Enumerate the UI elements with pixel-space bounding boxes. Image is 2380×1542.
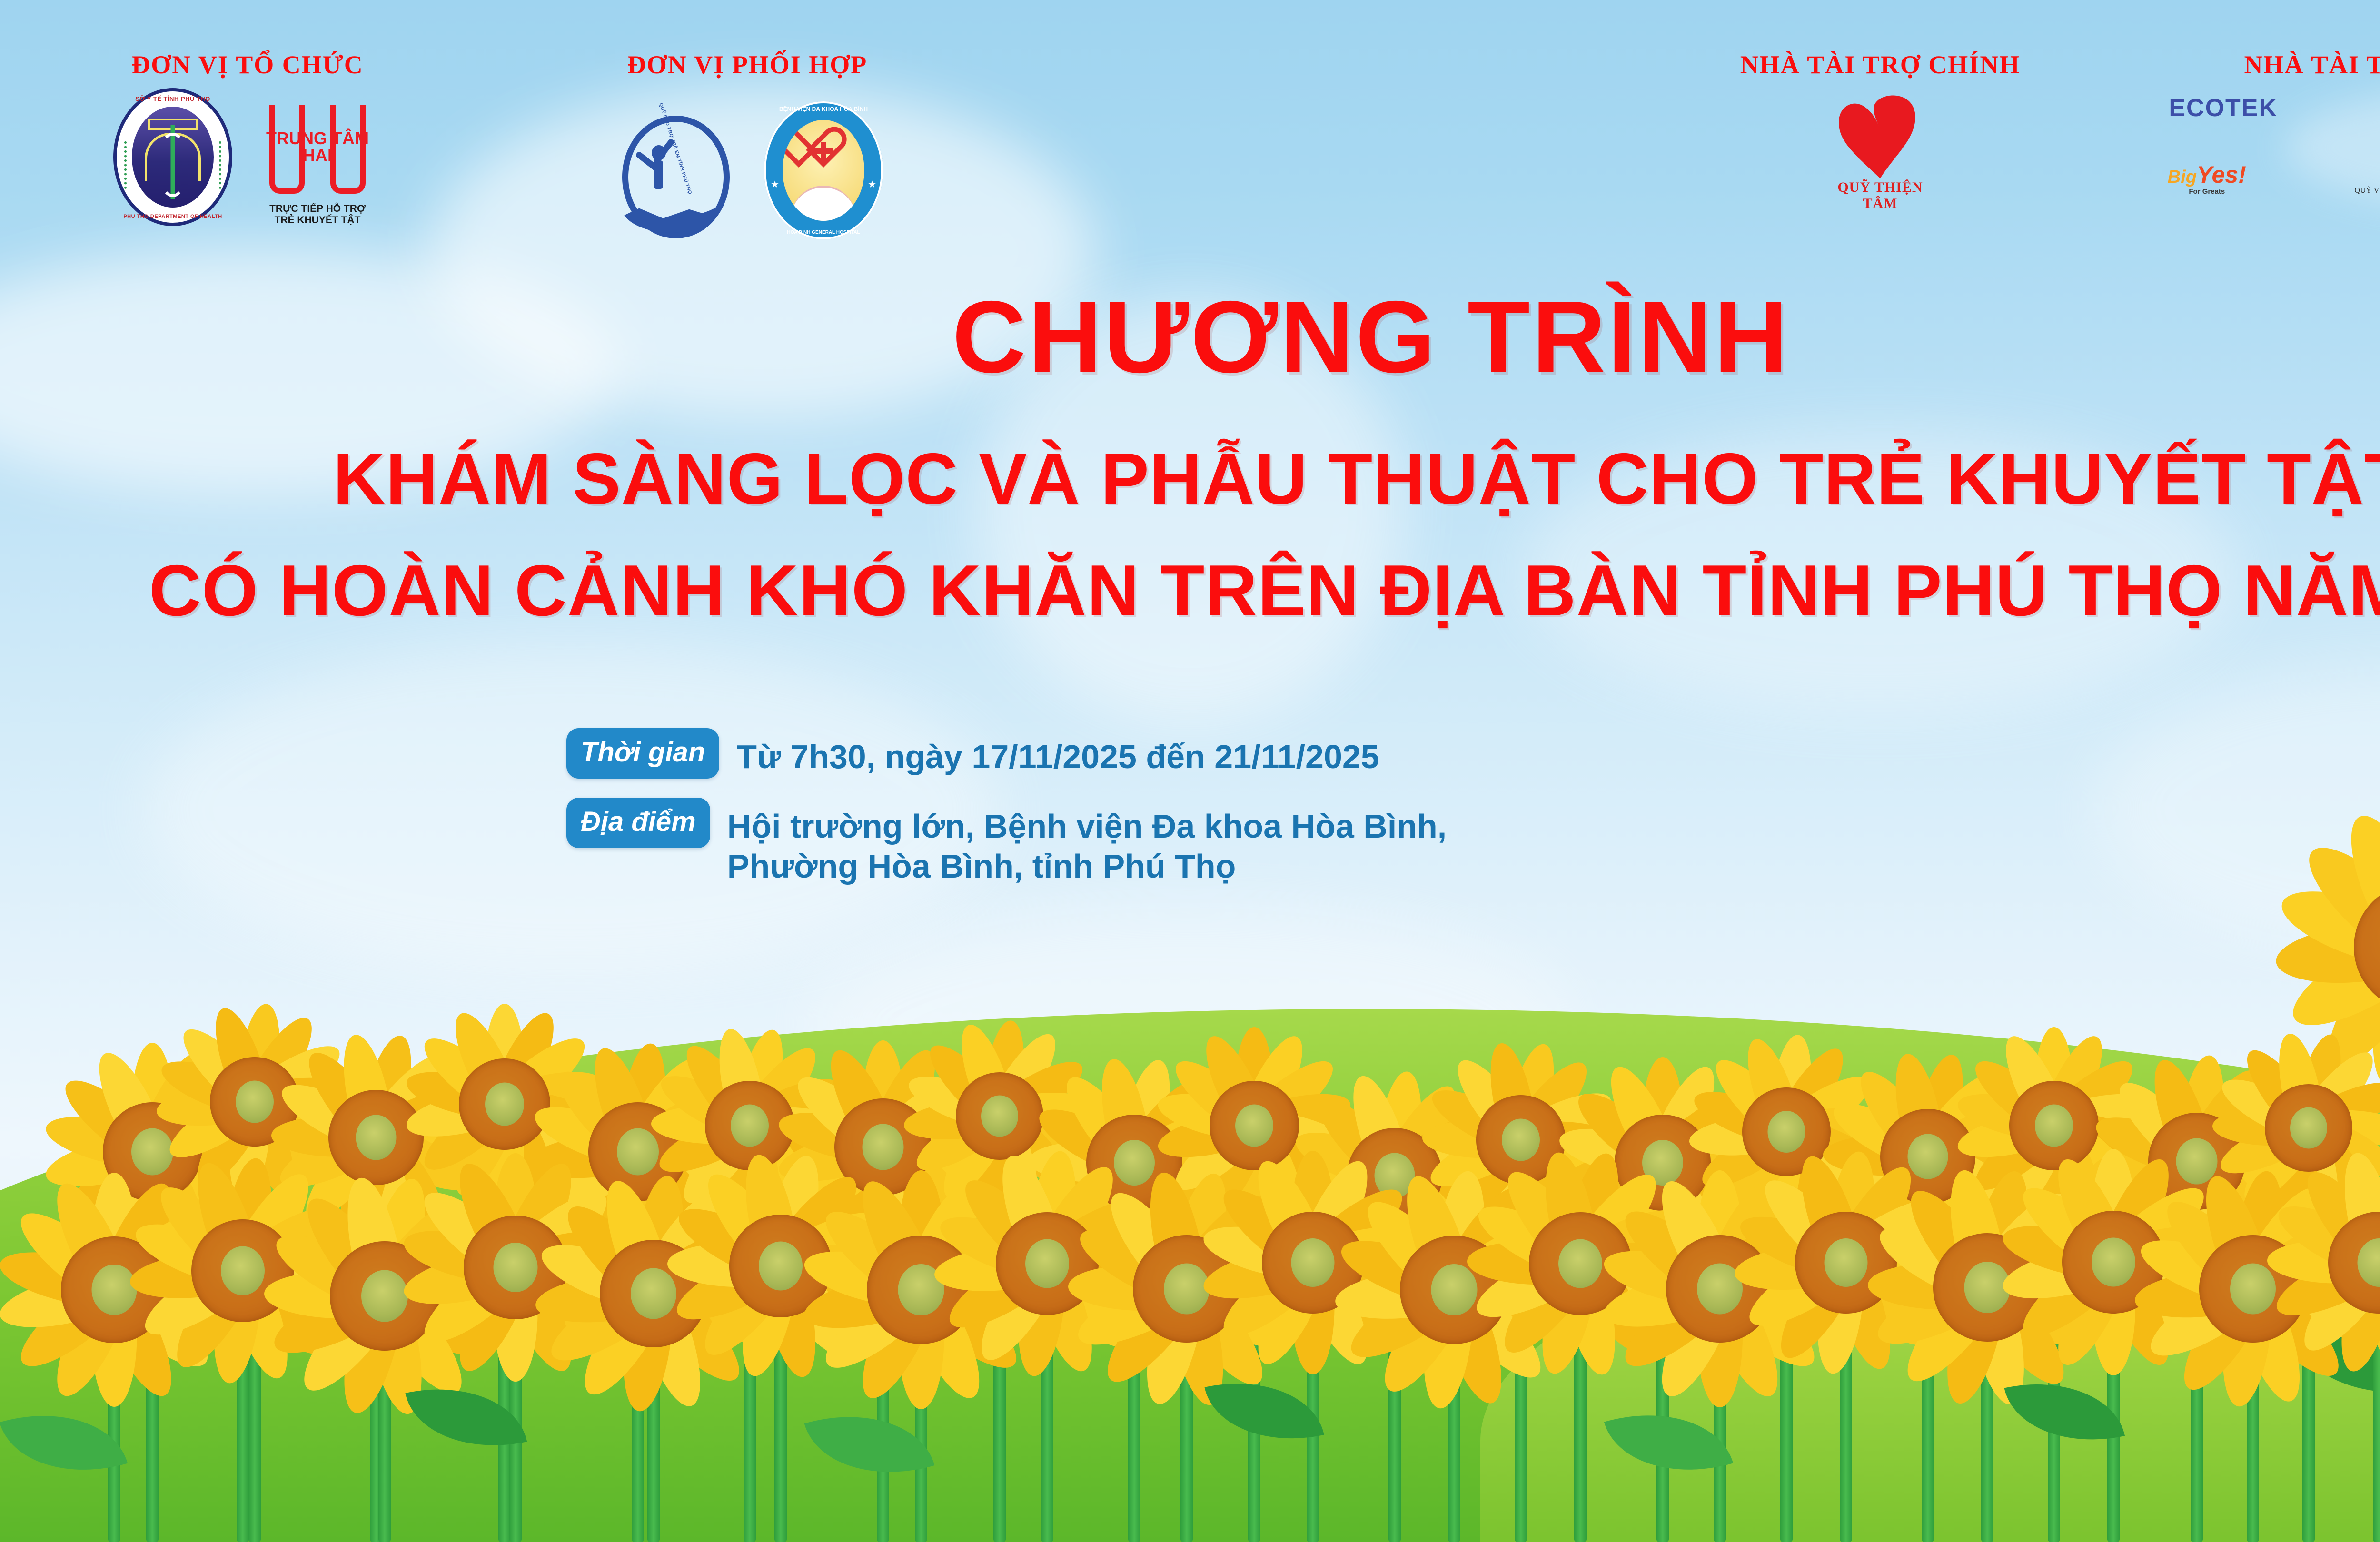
co-sponsor-row-2: Big Yes! For Greats QUỸ VÌ TƯƠNG LAI XAN… [2113,134,2380,195]
sponsor-group-partner: ĐƠN VỊ PHỐI HỢP QUỸ BẢO TRỢ TRẺ EM TỈNH … [557,50,938,239]
bigyes-yes: Yes! [2197,163,2246,187]
quy-thien-tam-label: QUỸ THIỆN TÂM [1818,179,1942,212]
trung-tam-hai-logo: TRUNG TÂM HAI TRỰC TIẾP HỖ TRỢ TRẺ KHUYẾ… [253,105,382,226]
star-left-icon: ★ [771,178,779,190]
tth-line1: TRUNG TÂM [253,130,382,147]
person-icon [639,145,677,202]
medical-cross-icon [814,142,833,161]
sponsor-group-main-sponsor: NHÀ TÀI TRỢ CHÍNH QUỸ THIỆN TÂM [1680,50,2080,212]
sponsor-group-heading: ĐƠN VỊ PHỐI HỢP [557,50,938,79]
page-title: CHƯƠNG TRÌNH [0,286,2380,388]
event-banner: ĐƠN VỊ TỔ CHỨC SỞ Y TẾ TỈNH PHÚ THỌ PHU … [0,0,2380,1542]
sponsor-group-organizer: ĐƠN VỊ TỔ CHỨC SỞ Y TẾ TỈNH PHÚ THỌ PHU … [57,50,438,226]
benh-vien-da-khoa-hoa-binh-seal: BỆNH VIỆN ĐA KHOA HÒA BÌNH ★ ★ HOA BINH … [764,101,883,239]
quy-bao-tro-tre-em-tinh-phu-tho-logo: QUỸ BẢO TRỢ TRẺ EM TỈNH PHÚ THỌ [612,111,735,239]
sponsor-group-heading: NHÀ TÀI TRỢ ĐỒNG HÀNH [2113,50,2380,79]
seal-inner-disc [132,107,214,208]
sunflower-field [0,980,2380,1542]
tth-sub1: TRỰC TIẾP HỖ TRỢ [253,203,382,215]
sunflower [2251,1135,2380,1390]
heart-stroke-icon [1825,92,1935,180]
bigyes-big: Big [2168,168,2197,186]
partner-logos: QUỸ BẢO TRỢ TRẺ EM TỈNH PHÚ THỌ BỆNH VIỆ… [557,101,938,239]
tth-name: TRUNG TÂM HAI [253,130,382,164]
bigyes-logo: Big Yes! For Greats [2168,163,2246,195]
sponsor-logo-bar: ĐƠN VỊ TỔ CHỨC SỞ Y TẾ TỈNH PHÚ THỌ PHU … [0,0,2380,267]
sunflower-center [981,1096,1018,1137]
time-value: Từ 7h30, ngày 17/11/2025 đến 21/11/2025 [736,728,1379,777]
event-time-row: Thời gian Từ 7h30, ngày 17/11/2025 đến 2… [566,728,2185,779]
event-place-row: Địa điểm Hội trường lớn, Bệnh viện Đa kh… [566,798,2185,886]
so-y-te-tinh-phu-tho-seal: SỞ Y TẾ TỈNH PHÚ THỌ PHU THO DEPARTMENT … [113,88,232,226]
page-subtitle-line-1: KHÁM SÀNG LỌC VÀ PHẪU THUẬT CHO TRẺ KHUY… [0,443,2380,515]
tth-line2: HAI [253,147,382,164]
tth-sub2: TRẺ KHUYẾT TẬT [253,215,382,226]
event-details: Thời gian Từ 7h30, ngày 17/11/2025 đến 2… [566,728,2185,905]
bigyes-tagline: For Greats [2189,188,2225,195]
organizer-logos: SỞ Y TẾ TỈNH PHÚ THỌ PHU THO DEPARTMENT … [57,88,438,226]
sponsor-group-co-sponsors: NHÀ TÀI TRỢ ĐỒNG HÀNH ECOTEK J B VIETNAM… [2113,50,2380,195]
star-right-icon: ★ [868,178,876,190]
quy-vi-tuong-lai-xanh-logo: QUỸ VÌ TƯƠNG LAI XANH [2354,134,2380,195]
quy-thien-tam-logo: QUỸ THIỆN TÂM [1818,92,1942,212]
co-sponsor-row-1: ECOTEK J B VIETNAM ekko [2113,94,2380,122]
sponsor-group-heading: NHÀ TÀI TRỢ CHÍNH [1680,50,2080,79]
place-value: Hội trường lớn, Bệnh viện Đa khoa Hòa Bì… [727,798,1447,886]
hospital-seal-core [783,120,864,221]
tth-bracket-mark: TRUNG TÂM HAI [253,105,382,200]
main-sponsor-logos: QUỸ THIỆN TÂM [1680,92,2080,212]
snake-icon [161,133,184,197]
hands-icon [791,186,856,221]
seal-top-text: SỞ Y TẾ TỈNH PHÚ THỌ [117,95,229,102]
page-subtitle-line-2: CÓ HOÀN CẢNH KHÓ KHĂN TRÊN ĐỊA BÀN TỈNH … [0,554,2380,627]
sponsor-group-heading: ĐƠN VỊ TỔ CHỨC [57,50,438,79]
bigyes-wordmark: Big Yes! [2168,163,2246,187]
quy-thien-tam-heart-wrap [1818,92,1942,182]
hospital-seal-bottom-text: HOA BINH GENERAL HOSPITAL [764,230,883,235]
time-label-badge: Thời gian [566,728,719,779]
ecotek-logo: ECOTEK [2169,94,2278,122]
quy-vi-tuong-lai-xanh-label: QUỸ VÌ TƯƠNG LAI XANH [2354,187,2380,195]
hospital-seal-top-text: BỆNH VIỆN ĐA KHOA HÒA BÌNH [764,106,883,112]
tth-sub: TRỰC TIẾP HỖ TRỢ TRẺ KHUYẾT TẬT [253,203,382,226]
place-label-badge: Địa điểm [566,798,710,848]
seal-bottom-text: PHU THO DEPARTMENT OF HEALTH [117,214,229,219]
